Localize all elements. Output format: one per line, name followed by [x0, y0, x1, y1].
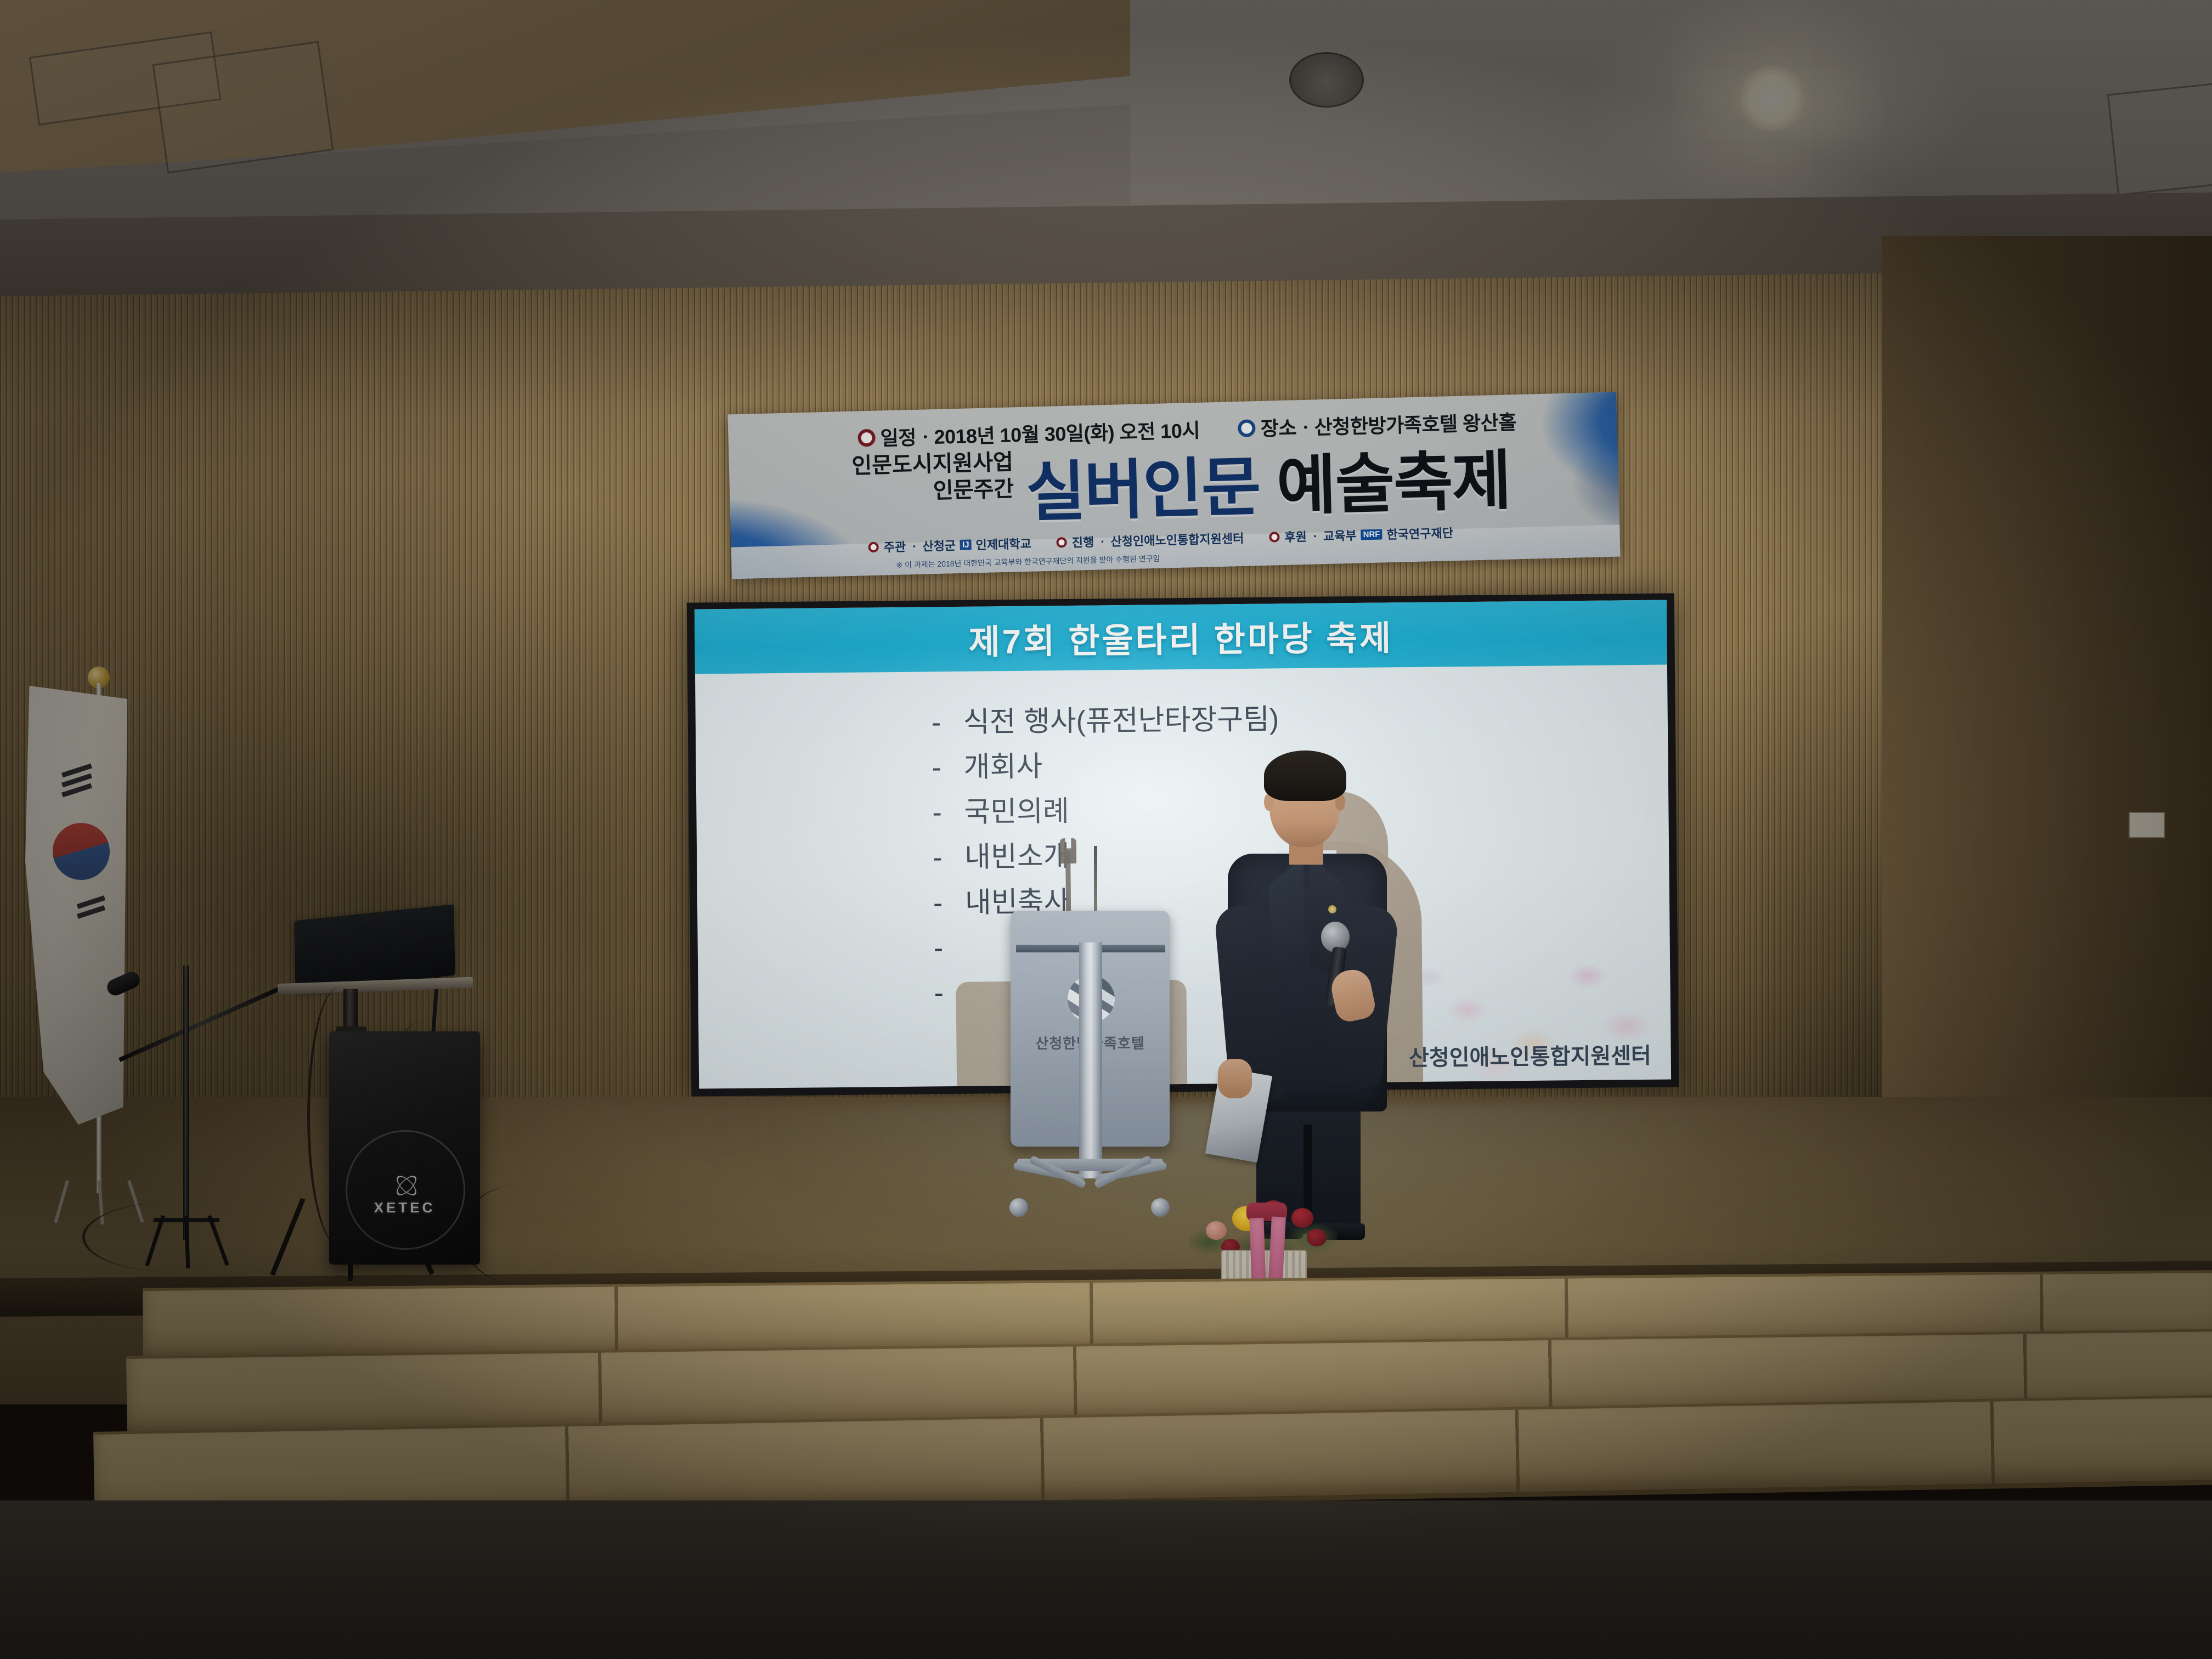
schedule-label: 일정: [880, 426, 916, 450]
podium-column: [1079, 943, 1102, 1178]
banner-title-blue: 실버인문: [1025, 451, 1261, 529]
bullet-text: 개회사: [963, 751, 1042, 783]
credit-role: 진행: [1071, 533, 1094, 551]
credit-role: 후원: [1284, 527, 1307, 545]
person-hair: [1264, 751, 1346, 801]
slide-body: -식전 행사(퓨전난타장구팀) -개회사 -국민의례 -내빈소개 -내빈축사: [695, 665, 1671, 1089]
bullet-dash-icon: -: [933, 835, 965, 881]
slide-title: 제7회 한울타리 한마당 축제: [968, 610, 1393, 663]
bullet-dot-icon: [1056, 537, 1066, 547]
rose-icon: [1291, 1208, 1313, 1228]
credit-org: 교육부: [1323, 526, 1357, 545]
microphone-stand: [137, 856, 236, 1240]
credit-role: 주관: [883, 537, 906, 555]
banner-main-title: 실버인문 예술축제: [1025, 428, 1511, 534]
bullet-text: 국민의례: [964, 795, 1069, 828]
bullet-dash-icon: -: [932, 790, 964, 836]
pa-speaker-cabinet: XETEC: [329, 1031, 480, 1265]
speaker-person: [1216, 741, 1397, 1229]
bullet-dot-icon: [1269, 532, 1279, 542]
ceiling-downlight-icon: [1728, 66, 1816, 132]
bullet-dash-icon: -: [933, 926, 966, 971]
ceiling-downlight-icon: [1289, 52, 1364, 108]
stage-photo-scene: 3 제7회 한울타리 한마당 축제 -식전 행사(퓨전난타장구팀) -개회사: [0, 0, 2212, 1659]
credit-org2: 인제대학교: [975, 534, 1031, 554]
podium-caster: [1151, 1198, 1170, 1217]
projection-screen: 제7회 한울타리 한마당 축제 -식전 행사(퓨전난타장구팀) -개회사 -국민…: [687, 593, 1679, 1096]
mic-stand-pole: [183, 966, 189, 1240]
podium: 산청한방가족호텔: [1011, 911, 1170, 1218]
banner-kicker-line2: 인문주간: [827, 476, 1014, 507]
bullet-dash-icon: -: [932, 745, 964, 791]
ceiling-access-panel: [2107, 82, 2212, 196]
bullet-text: 식전 행사(퓨전난타장구팀): [963, 703, 1279, 738]
podium-mic-stem: [1094, 846, 1097, 913]
slide-footer-text: 산청인애노인통합지원센터: [1409, 1038, 1651, 1072]
list-item: -식전 행사(퓨전난타장구팀): [931, 697, 1279, 745]
slide-title-bar: 제7회 한울타리 한마당 축제: [695, 600, 1667, 674]
wall-sign: [2129, 812, 2165, 838]
inje-logo-icon: IJ: [960, 539, 972, 550]
ceiling-access-panel: [153, 41, 334, 174]
bullet-dot-icon: [868, 541, 878, 552]
projected-slide: 제7회 한울타리 한마당 축제 -식전 행사(퓨전난타장구팀) -개회사 -국민…: [695, 600, 1671, 1089]
nrf-logo-icon: NRF: [1361, 529, 1382, 540]
bullet-text: 내빈소개: [964, 840, 1070, 873]
credit-org: 산청군: [922, 536, 956, 555]
pa-speaker-brand-label: XETEC: [329, 1199, 480, 1216]
audio-cable: [82, 1201, 272, 1273]
banner-title-black: 예술축제: [1276, 444, 1511, 523]
credit-org2: 한국연구재단: [1386, 523, 1453, 543]
credit-org: 산청인애노인통합지원센터: [1110, 529, 1244, 550]
rose-icon: [1307, 1229, 1327, 1246]
hall-floor: [0, 1500, 2212, 1659]
bullet-dash-icon: -: [931, 700, 963, 746]
rose-icon: [1206, 1221, 1227, 1240]
banner-kicker: 인문도시지원사업 인문주간: [826, 449, 1014, 507]
podium-caster: [1009, 1198, 1028, 1217]
banner-kicker-line1: 인문도시지원사업: [826, 449, 1013, 480]
bullet-dash-icon: -: [933, 880, 966, 926]
event-banner: 일정ㆍ2018년 10월 30일(화) 오전 10시장소ㆍ산청한방가족호텔 왕산…: [727, 392, 1620, 579]
person-hand: [1218, 1059, 1252, 1098]
bullet-dot-icon: [857, 429, 876, 447]
person-lapel-pin-icon: [1328, 905, 1336, 913]
